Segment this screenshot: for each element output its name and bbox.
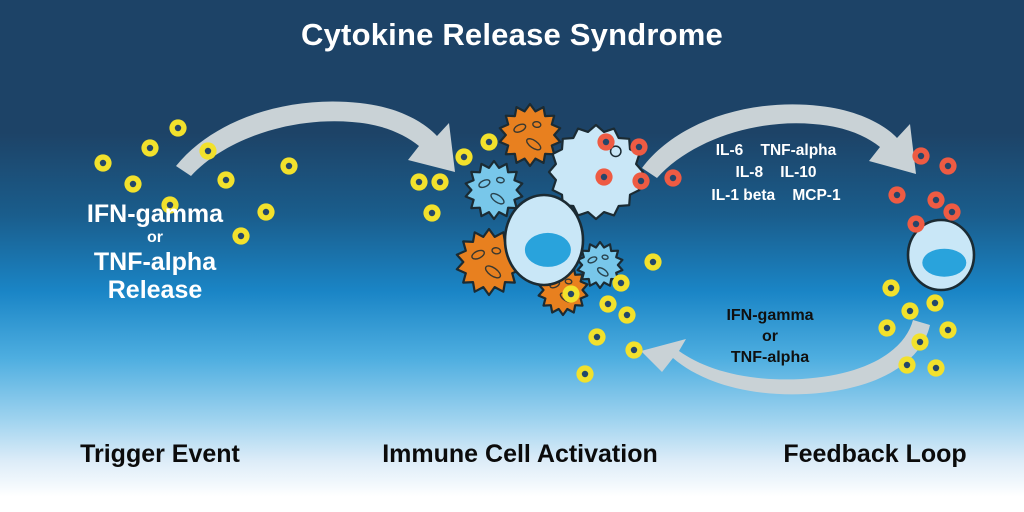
cytokine-particle-yellow xyxy=(898,356,915,373)
cytokine-list: IL-6 TNF-alpha IL-8 IL-10 IL-1 beta MCP-… xyxy=(678,140,874,207)
cytokine-core xyxy=(416,179,422,185)
cytokine-core xyxy=(949,209,955,215)
cytokine-particle-yellow xyxy=(199,142,216,159)
cytokine-particle-yellow xyxy=(410,173,427,190)
cytokine-particle-yellow xyxy=(431,173,448,190)
cytokine-particle-yellow xyxy=(927,359,944,376)
cytokine-core xyxy=(486,139,492,145)
cytokine-core xyxy=(175,125,181,131)
cytokine-core xyxy=(894,192,900,198)
cytokine-particle-yellow xyxy=(644,253,661,270)
cytokine-particle-yellow xyxy=(625,341,642,358)
cytokine-list-row-1: IL-6 TNF-alpha xyxy=(678,140,874,162)
cytokine-core xyxy=(631,347,637,353)
cytokine-particle-yellow xyxy=(455,148,472,165)
trigger-label-line3: TNF-alpha xyxy=(20,248,290,276)
cytokine-core xyxy=(461,154,467,160)
cytokine-particle-red xyxy=(632,172,649,189)
cytokine-core xyxy=(918,153,924,159)
cytokine-core xyxy=(650,259,656,265)
cytokine-particle-red xyxy=(939,157,956,174)
cytokine-particle-red xyxy=(630,138,647,155)
cytokine-particle-yellow xyxy=(939,321,956,338)
cytokine-particle-red xyxy=(888,186,905,203)
cytokine-particle-yellow xyxy=(599,295,616,312)
cytokine-core xyxy=(130,181,136,187)
cytokine-core xyxy=(888,285,894,291)
cytokine-core xyxy=(223,177,229,183)
cell-nucleus xyxy=(525,233,571,267)
cytokine-list-row-3: IL-1 beta MCP-1 xyxy=(678,185,874,207)
caption-immune-cell-activation: Immune Cell Activation xyxy=(330,440,710,469)
cytokine-particle-yellow xyxy=(141,139,158,156)
immune-cell-nucleated xyxy=(505,195,583,285)
cytokine-core xyxy=(904,362,910,368)
cytokine-particle-yellow xyxy=(618,306,635,323)
cytokine-particle-yellow xyxy=(423,204,440,221)
trigger-label-line4: Release xyxy=(20,276,290,304)
arrow-trigger-to-activation xyxy=(176,101,455,176)
cytokine-particle-yellow xyxy=(878,319,895,336)
cytokine-core xyxy=(932,300,938,306)
cytokine-core xyxy=(913,221,919,227)
cytokine-list-row-2: IL-8 IL-10 xyxy=(678,162,874,184)
feedback-label-line3: TNF-alpha xyxy=(670,348,870,369)
cytokine-particle-yellow xyxy=(882,279,899,296)
feedback-label-line1: IFN-gamma xyxy=(670,306,870,327)
cytokine-particle-yellow xyxy=(588,328,605,345)
cytokine-core xyxy=(917,339,923,345)
trigger-label-line2: or xyxy=(20,229,290,247)
immune-cell-orange xyxy=(500,104,560,166)
cytokine-core xyxy=(636,144,642,150)
cytokine-core xyxy=(884,325,890,331)
cytokine-core xyxy=(601,174,607,180)
cytokine-core xyxy=(933,197,939,203)
cytokine-core xyxy=(429,210,435,216)
cytokine-particle-yellow xyxy=(911,333,928,350)
cell-body xyxy=(500,104,560,166)
cytokine-core xyxy=(670,175,676,181)
cytokine-particle-red xyxy=(943,203,960,220)
trigger-label: IFN-gamma or TNF-alpha Release xyxy=(20,200,290,304)
caption-feedback-loop: Feedback Loop xyxy=(730,440,1020,469)
cytokine-particle-red xyxy=(927,191,944,208)
cytokine-core xyxy=(568,291,574,297)
cytokine-particle-yellow xyxy=(926,294,943,311)
cytokine-particle-yellow xyxy=(480,133,497,150)
caption-trigger-event: Trigger Event xyxy=(20,440,300,469)
cytokine-particle-yellow xyxy=(217,171,234,188)
cytokine-core xyxy=(286,163,292,169)
cytokine-particle-yellow xyxy=(169,119,186,136)
cytokine-particle-yellow xyxy=(94,154,111,171)
cytokine-core xyxy=(933,365,939,371)
cytokine-core xyxy=(907,308,913,314)
cytokine-core xyxy=(437,179,443,185)
cytokine-particle-red xyxy=(597,133,614,150)
cytokine-particle-red xyxy=(907,215,924,232)
diagram-canvas: Cytokine Release Syndrome IFN-gamma or T… xyxy=(0,0,1024,512)
cytokine-core xyxy=(205,148,211,154)
cytokine-particle-yellow xyxy=(612,274,629,291)
cytokine-core xyxy=(582,371,588,377)
feedback-label: IFN-gamma or TNF-alpha xyxy=(670,306,870,368)
cell-nucleus xyxy=(922,249,966,277)
cytokine-particle-yellow xyxy=(901,302,918,319)
cytokine-core xyxy=(603,139,609,145)
cytokine-particle-yellow xyxy=(280,157,297,174)
cytokine-core xyxy=(638,178,644,184)
trigger-label-line1: IFN-gamma xyxy=(20,200,290,228)
cytokine-particle-red xyxy=(912,147,929,164)
cytokine-particle-yellow xyxy=(576,365,593,382)
cytokine-core xyxy=(624,312,630,318)
cytokine-core xyxy=(945,163,951,169)
cytokine-core xyxy=(618,280,624,286)
cytokine-particle-yellow xyxy=(562,285,579,302)
feedback-label-line2: or xyxy=(670,327,870,348)
cytokine-core xyxy=(945,327,951,333)
cytokine-core xyxy=(147,145,153,151)
cytokine-particle-yellow xyxy=(124,175,141,192)
page-title: Cytokine Release Syndrome xyxy=(0,17,1024,53)
cytokine-particle-red xyxy=(595,168,612,185)
cytokine-core xyxy=(605,301,611,307)
cytokine-core xyxy=(594,334,600,340)
cytokine-core xyxy=(100,160,106,166)
